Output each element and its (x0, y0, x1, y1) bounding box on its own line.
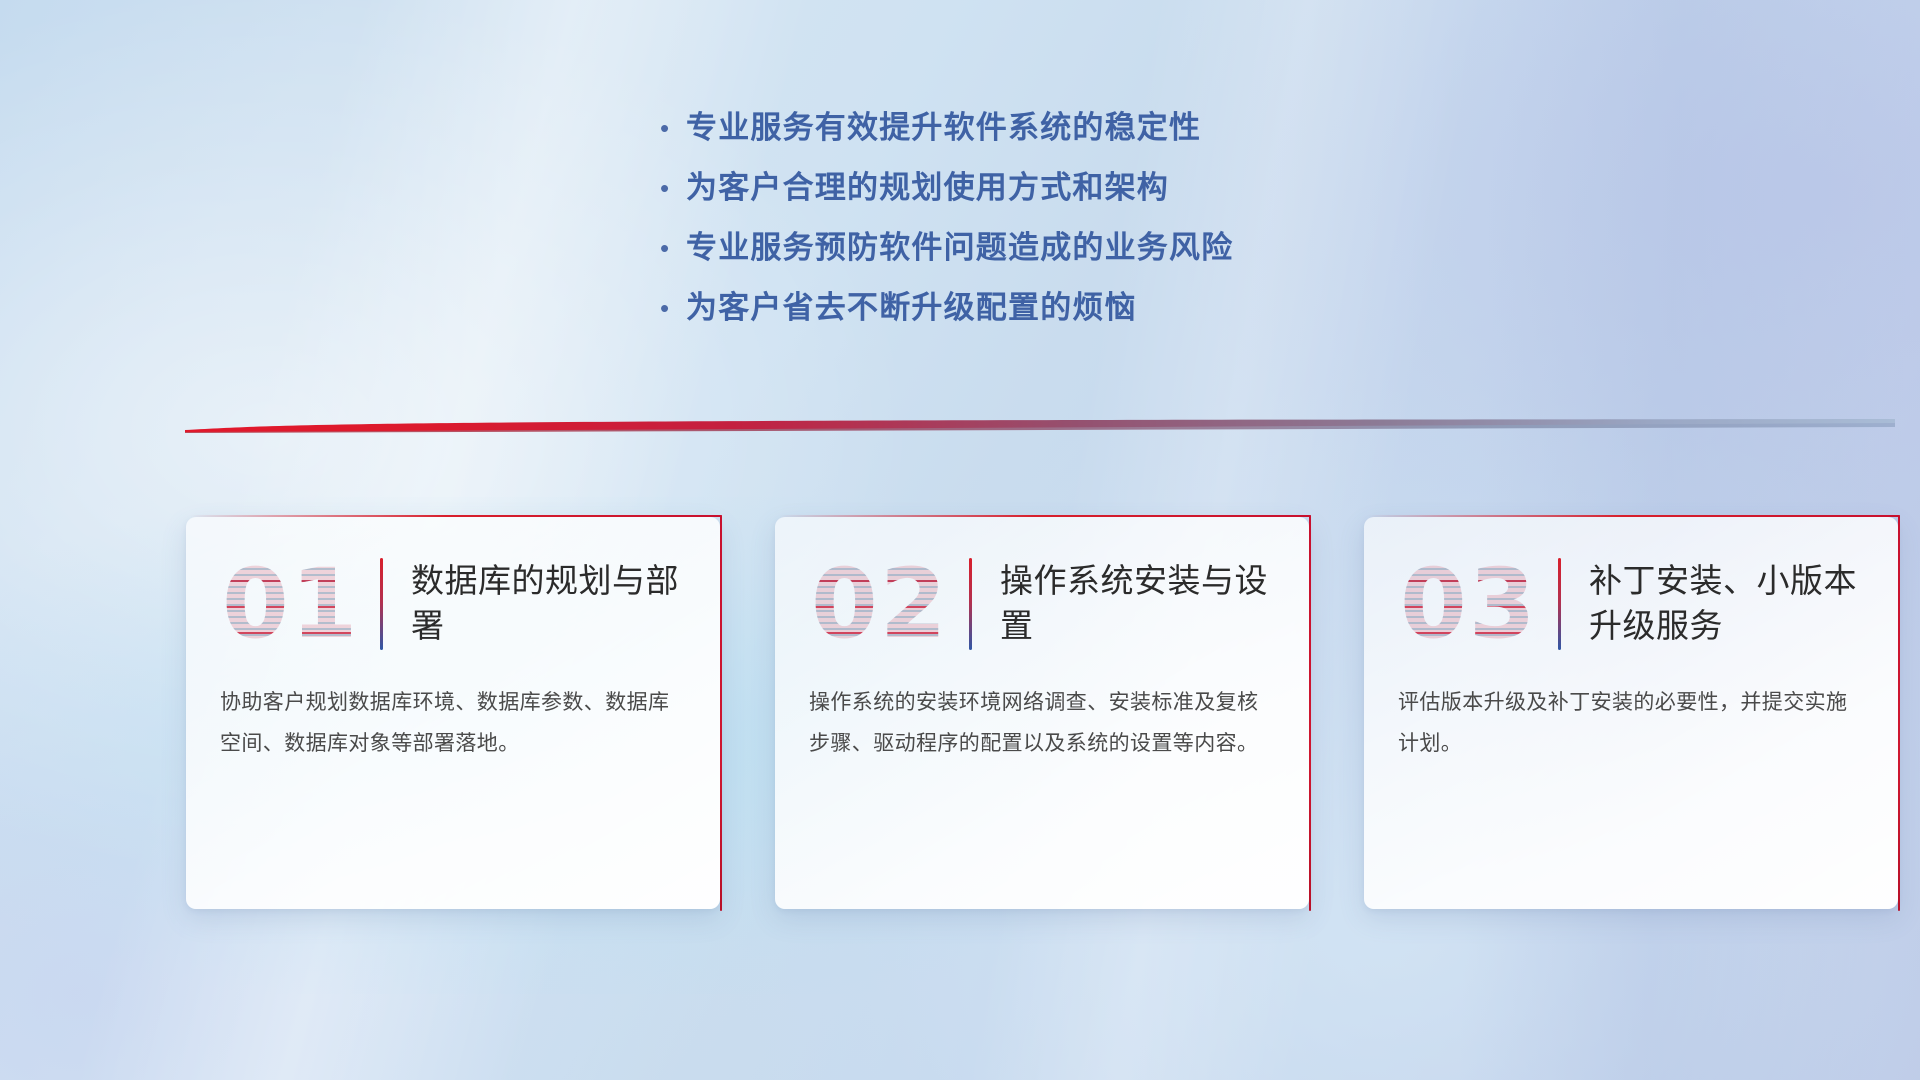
card-body-text: 协助客户规划数据库环境、数据库参数、数据库空间、数据库对象等部署落地。 (186, 665, 720, 765)
card-title: 数据库的规划与部署 (411, 559, 690, 648)
card-accent-right (1898, 515, 1900, 911)
card-header: 01 01 数据库的规划与部署 (186, 517, 720, 665)
slide-canvas: • 专业服务有效提升软件系统的稳定性 • 为客户合理的规划使用方式和架构 • 专… (0, 0, 1920, 1080)
card-number-redstreak: 02 (811, 548, 959, 660)
bullet-text: 为客户省去不断升级配置的烦恼 (686, 288, 1137, 328)
card-header: 03 03 补丁安装、小版本升级服务 (1364, 517, 1898, 665)
divider-shape-icon (185, 418, 1895, 436)
card-number-watermark: 03 03 (1400, 548, 1548, 660)
list-item: • 为客户省去不断升级配置的烦恼 (660, 288, 1233, 328)
card-body-text: 操作系统的安装环境网络调查、安装标准及复核步骤、驱动程序的配置以及系统的设置等内… (775, 665, 1309, 765)
service-card-01[interactable]: 01 01 数据库的规划与部署 协助客户规划数据库环境、数据库参数、数据库空间、… (186, 517, 720, 909)
service-card-row: 01 01 数据库的规划与部署 协助客户规划数据库环境、数据库参数、数据库空间、… (186, 517, 1898, 909)
card-number-watermark: 02 02 (811, 548, 959, 660)
card-header: 02 02 操作系统安装与设置 (775, 517, 1309, 665)
card-accent-right (1309, 515, 1311, 911)
card-number-watermark: 01 01 (222, 548, 370, 660)
benefits-bullet-list: • 专业服务有效提升软件系统的稳定性 • 为客户合理的规划使用方式和架构 • 专… (660, 108, 1233, 348)
card-title-accent-bar (969, 558, 972, 650)
section-divider (185, 418, 1895, 436)
bullet-text: 专业服务预防软件问题造成的业务风险 (686, 228, 1233, 268)
card-title: 操作系统安装与设置 (1000, 559, 1279, 648)
bullet-text: 为客户合理的规划使用方式和架构 (686, 168, 1169, 208)
card-title-accent-bar (380, 558, 383, 650)
bullet-dot-icon: • (660, 108, 686, 148)
card-title-accent-bar (1558, 558, 1561, 650)
card-body-text: 评估版本升级及补丁安装的必要性，并提交实施计划。 (1364, 665, 1898, 765)
card-accent-right (720, 515, 722, 911)
bullet-dot-icon: • (660, 228, 686, 268)
bullet-dot-icon: • (660, 168, 686, 208)
card-number-redstreak: 01 (222, 548, 370, 660)
list-item: • 专业服务有效提升软件系统的稳定性 (660, 108, 1233, 148)
service-card-02[interactable]: 02 02 操作系统安装与设置 操作系统的安装环境网络调查、安装标准及复核步骤、… (775, 517, 1309, 909)
bullet-dot-icon: • (660, 288, 686, 328)
card-title: 补丁安装、小版本升级服务 (1589, 559, 1868, 648)
card-number-redstreak: 03 (1400, 548, 1548, 660)
list-item: • 为客户合理的规划使用方式和架构 (660, 168, 1233, 208)
list-item: • 专业服务预防软件问题造成的业务风险 (660, 228, 1233, 268)
service-card-03[interactable]: 03 03 补丁安装、小版本升级服务 评估版本升级及补丁安装的必要性，并提交实施… (1364, 517, 1898, 909)
bullet-text: 专业服务有效提升软件系统的稳定性 (686, 108, 1201, 148)
